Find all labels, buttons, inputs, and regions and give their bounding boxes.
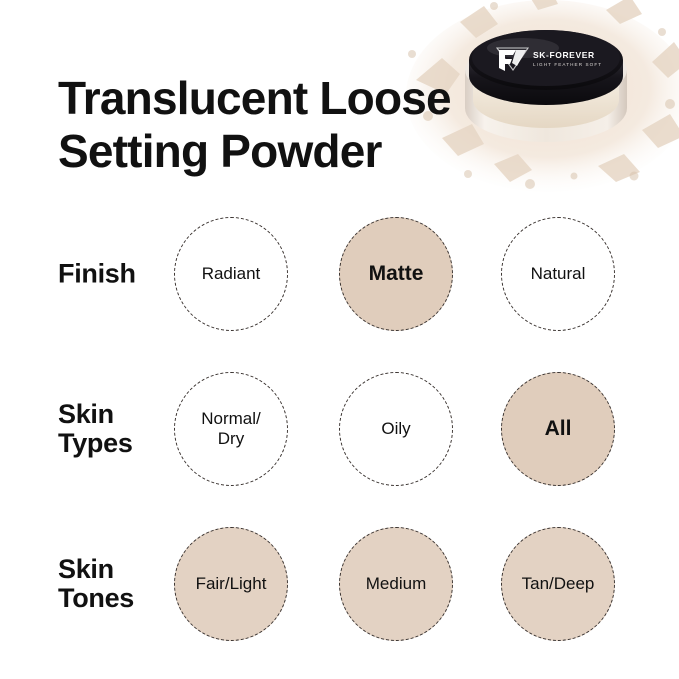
attribute-row-skin-tones: Skin Tones Fair/Light Medium Tan/Deep xyxy=(0,506,679,661)
option-skin-type-normal-dry[interactable]: Normal/ Dry xyxy=(174,372,288,486)
option-skin-tone-tan-deep[interactable]: Tan/Deep xyxy=(501,527,615,641)
option-skin-type-oily[interactable]: Oily xyxy=(339,372,453,486)
powder-jar-graphic: SK-FOREVER LIGHT FEATHER SOFT xyxy=(453,26,639,154)
page-title-line-2: Setting Powder xyxy=(58,125,478,178)
option-finish-natural[interactable]: Natural xyxy=(501,217,615,331)
option-finish-matte[interactable]: Matte xyxy=(339,217,453,331)
attribute-rows: Finish Radiant Matte Natural Skin Types … xyxy=(0,196,679,661)
page-title: Translucent Loose Setting Powder xyxy=(58,72,478,179)
option-skin-tone-fair-light[interactable]: Fair/Light xyxy=(174,527,288,641)
page-title-line-1: Translucent Loose xyxy=(58,72,478,125)
row-label-skin-types: Skin Types xyxy=(58,399,133,457)
product-infographic: SK-FOREVER LIGHT FEATHER SOFT Translucen… xyxy=(0,0,679,679)
attribute-row-finish: Finish Radiant Matte Natural xyxy=(0,196,679,351)
row-label-skin-tones: Skin Tones xyxy=(58,554,134,612)
brand-logo-mark xyxy=(497,48,528,71)
brand-tagline-text: LIGHT FEATHER SOFT xyxy=(533,62,602,67)
option-skin-type-all[interactable]: All xyxy=(501,372,615,486)
row-label-finish: Finish xyxy=(58,259,136,288)
brand-name-text: SK-FOREVER xyxy=(533,50,595,60)
option-finish-radiant[interactable]: Radiant xyxy=(174,217,288,331)
attribute-row-skin-types: Skin Types Normal/ Dry Oily All xyxy=(0,351,679,506)
option-skin-tone-medium[interactable]: Medium xyxy=(339,527,453,641)
